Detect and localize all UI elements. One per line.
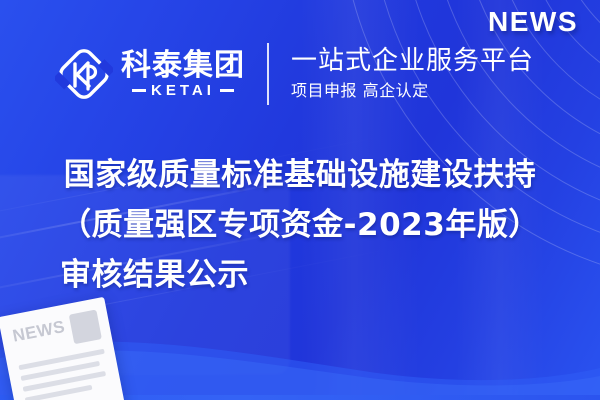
newspaper-header: NEWS <box>11 309 102 355</box>
title-line-1: 国家级质量标准基础设施建设扶持 <box>18 150 582 200</box>
page-title: 国家级质量标准基础设施建设扶持 （质量强区专项资金-2023年版） 审核结果公示 <box>0 150 600 300</box>
vertical-divider-icon <box>267 43 269 105</box>
banner-header: 科泰集团 KETAI 一站式企业服务平台 项目申报 高企认定 <box>0 34 600 114</box>
tagline-sub: 项目申报 高企认定 <box>291 80 534 102</box>
logo-name-cn: 科泰集团 <box>121 50 245 82</box>
newspaper-title: NEWS <box>11 316 67 345</box>
tagline-group: 一站式企业服务平台 项目申报 高企认定 <box>291 46 534 101</box>
image-placeholder-icon <box>69 309 102 344</box>
dash-icon <box>220 89 234 92</box>
logo-name-en-row: KETAI <box>132 83 234 98</box>
title-line-3: 审核结果公示 <box>18 250 582 300</box>
news-badge: NEWS <box>488 6 578 38</box>
logo-text-group: 科泰集团 KETAI <box>121 50 245 99</box>
title-line-2: （质量强区专项资金-2023年版） <box>18 200 582 250</box>
dash-icon <box>132 89 146 92</box>
newspaper-text-lines <box>18 349 111 400</box>
logo-name-en: KETAI <box>151 83 215 98</box>
ketai-monogram-icon <box>55 45 113 103</box>
tagline-main: 一站式企业服务平台 <box>291 46 534 77</box>
company-logo[interactable]: 科泰集团 KETAI <box>55 45 245 103</box>
newspaper-icon: NEWS <box>0 297 126 400</box>
news-banner: 科泰集团 KETAI 一站式企业服务平台 项目申报 高企认定 NEWS 国家级质… <box>0 0 600 400</box>
